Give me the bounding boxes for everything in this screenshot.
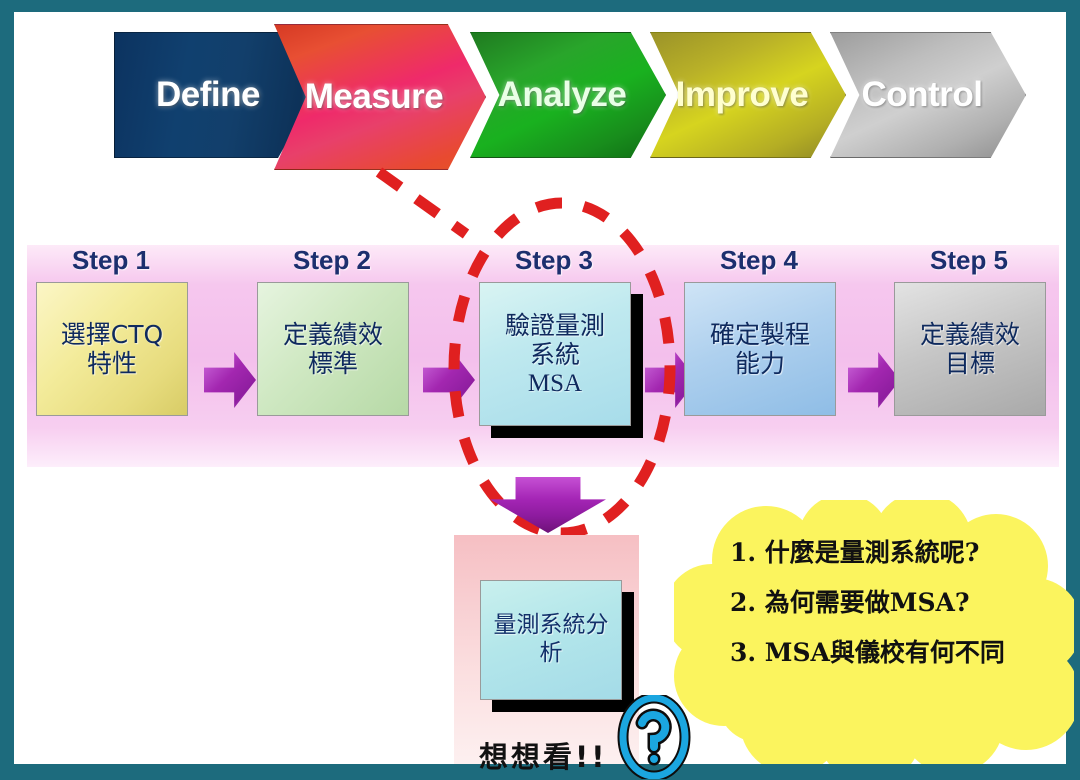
cloud-question-item: 3. MSA與儀校有何不同 xyxy=(730,640,1030,665)
cloud-question-item: 1. 什麼是量測系統呢? xyxy=(730,540,1030,565)
slide-frame: Define Measure Analyze Improve Control S… xyxy=(14,12,1066,764)
step-box-5[interactable]: 定義績效 目標 xyxy=(894,282,1046,416)
dmaic-phase-label: Analyze xyxy=(498,75,627,115)
step-box-line: 定義績效 xyxy=(920,320,1020,349)
step-box-1[interactable]: 選擇CTQ 特性 xyxy=(36,282,188,416)
step-box-line: MSA xyxy=(528,369,582,398)
dmaic-phase-banner: Define Measure Analyze Improve Control xyxy=(14,12,1066,197)
step-2[interactable]: Step 2 定義績效 標準 xyxy=(257,245,407,416)
think-label: 想想看!! xyxy=(479,734,607,776)
step-box-line: 驗證量測 xyxy=(505,311,605,340)
step-box-line: 標準 xyxy=(308,349,358,378)
step-box-line: 系統 xyxy=(530,340,580,369)
dmaic-phase-measure[interactable]: Measure xyxy=(274,24,486,170)
dmaic-phase-improve[interactable]: Improve xyxy=(650,32,846,158)
cloud-question-list: 1. 什麼是量測系統呢? 2. 為何需要做MSA? 3. MSA與儀校有何不同 xyxy=(730,540,1030,690)
step-4[interactable]: Step 4 確定製程 能力 xyxy=(684,245,834,416)
msa-box-line: 量測系統分 xyxy=(494,612,609,638)
msa-analysis-box[interactable]: 量測系統分 析 xyxy=(480,580,622,700)
dmaic-phase-analyze[interactable]: Analyze xyxy=(470,32,666,158)
dmaic-phase-label: Control xyxy=(862,75,983,115)
cloud-question-item: 2. 為何需要做MSA? xyxy=(730,590,1030,615)
dmaic-phase-control[interactable]: Control xyxy=(830,32,1026,158)
step-label: Step 1 xyxy=(36,245,186,276)
step-3[interactable]: Step 3 驗證量測 系統 MSA xyxy=(479,245,629,426)
step-box-line: 目標 xyxy=(945,349,995,378)
step-box-4[interactable]: 確定製程 能力 xyxy=(684,282,836,416)
step-box-line: 能力 xyxy=(735,349,785,378)
step-label: Step 5 xyxy=(894,245,1044,276)
step-box-3[interactable]: 驗證量測 系統 MSA xyxy=(479,282,631,426)
step-box-line: 確定製程 xyxy=(710,320,810,349)
down-arrow-icon xyxy=(490,477,606,533)
dmaic-phase-label: Measure xyxy=(305,77,444,117)
step-box-2[interactable]: 定義績效 標準 xyxy=(257,282,409,416)
step-label: Step 2 xyxy=(257,245,407,276)
question-mark-icon xyxy=(617,695,691,779)
msa-box-line: 析 xyxy=(540,640,563,666)
step-box-line: 選擇CTQ xyxy=(61,320,163,349)
dmaic-phase-label: Improve xyxy=(676,75,809,115)
step-box-line: 定義績效 xyxy=(283,320,383,349)
step-1[interactable]: Step 1 選擇CTQ 特性 xyxy=(36,245,186,416)
step-box-line: 特性 xyxy=(87,349,137,378)
step-label: Step 4 xyxy=(684,245,834,276)
dmaic-phase-label: Define xyxy=(156,75,260,115)
step-5[interactable]: Step 5 定義績效 目標 xyxy=(894,245,1044,416)
slide-canvas: Define Measure Analyze Improve Control S… xyxy=(14,12,1066,764)
step-label: Step 3 xyxy=(479,245,629,276)
